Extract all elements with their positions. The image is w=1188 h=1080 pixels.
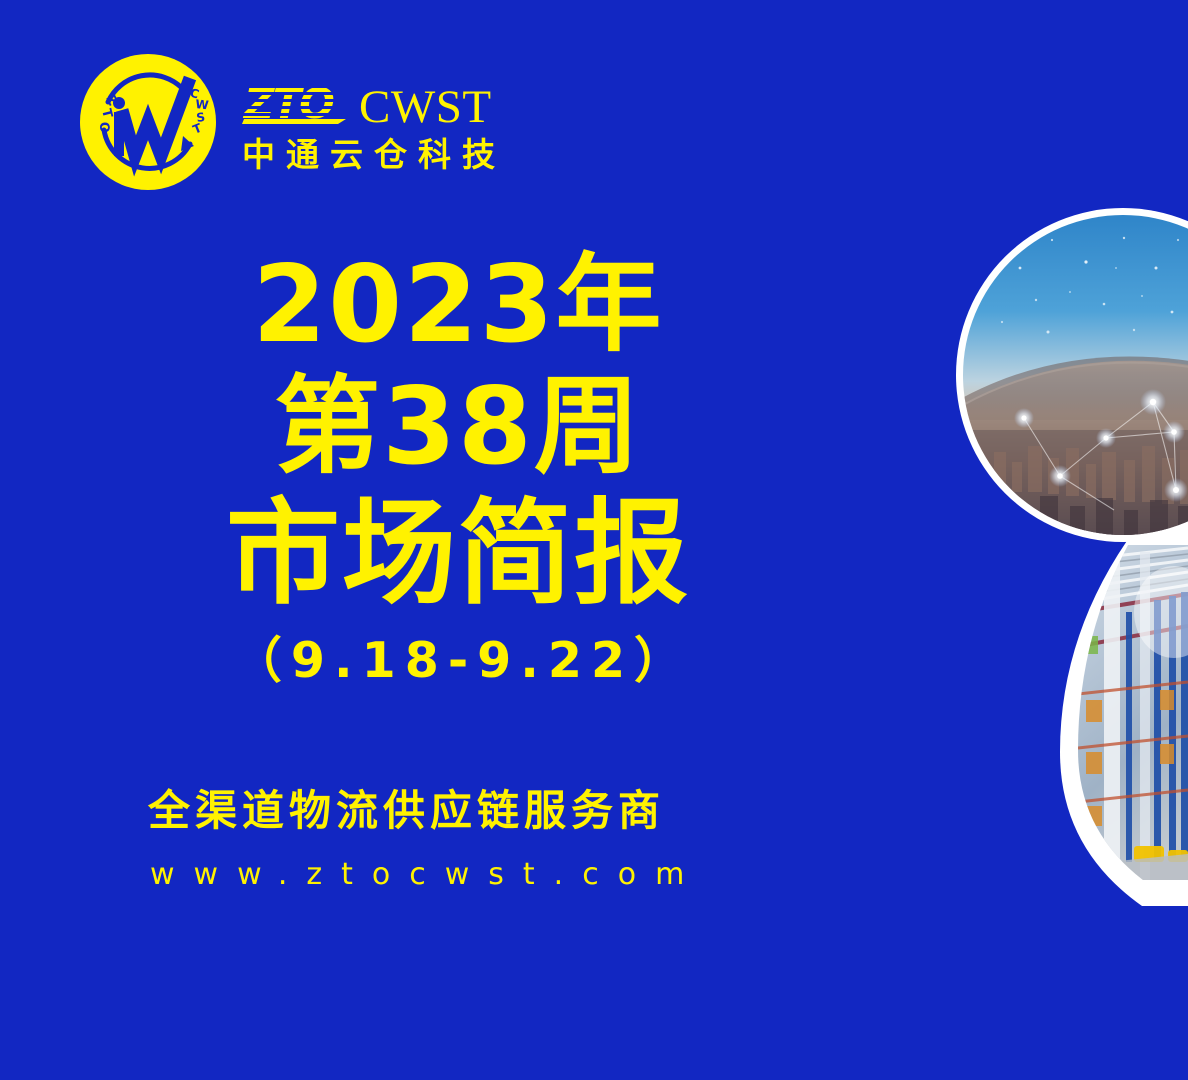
title-line-year: 2023年 xyxy=(0,246,916,364)
svg-text:O: O xyxy=(96,122,111,134)
brand-chinese-name: 中通云仓科技 xyxy=(242,135,506,175)
zto-cwst-circular-logo-icon: Z T O C W S T xyxy=(78,52,218,192)
title-date-range: （9.18-9.22） xyxy=(0,628,916,694)
network-node-glow xyxy=(1014,389,1188,502)
company-website-url[interactable]: www.ztocwst.com xyxy=(150,856,703,894)
right-side-artwork xyxy=(928,0,1188,1080)
brand-wordmark: ZTO CWST 中通云仓科技 xyxy=(242,70,506,175)
warehouse-photo-frame xyxy=(1060,528,1188,906)
svg-text:ZTO: ZTO xyxy=(242,79,334,124)
poster-canvas: Z T O C W S T xyxy=(0,0,1188,1080)
zto-speedlines-wordmark-icon: ZTO xyxy=(242,78,354,124)
city-photo-frame xyxy=(956,208,1188,542)
title-line-week: 第38周 xyxy=(0,364,916,490)
cwst-wordmark-text: CWST xyxy=(359,84,492,130)
circular-city-network-photo xyxy=(938,215,1188,545)
title-line-subject: 市场简报 xyxy=(0,490,916,618)
warehouse-interior-photo xyxy=(1058,530,1188,912)
poster-title-block: 2023年 第38周 市场简报 （9.18-9.22） xyxy=(0,246,916,694)
company-tagline: 全渠道物流供应链服务商 xyxy=(148,786,665,836)
brand-lockup: Z T O C W S T xyxy=(78,52,506,192)
wordmark-latin-row: ZTO CWST xyxy=(242,76,506,128)
